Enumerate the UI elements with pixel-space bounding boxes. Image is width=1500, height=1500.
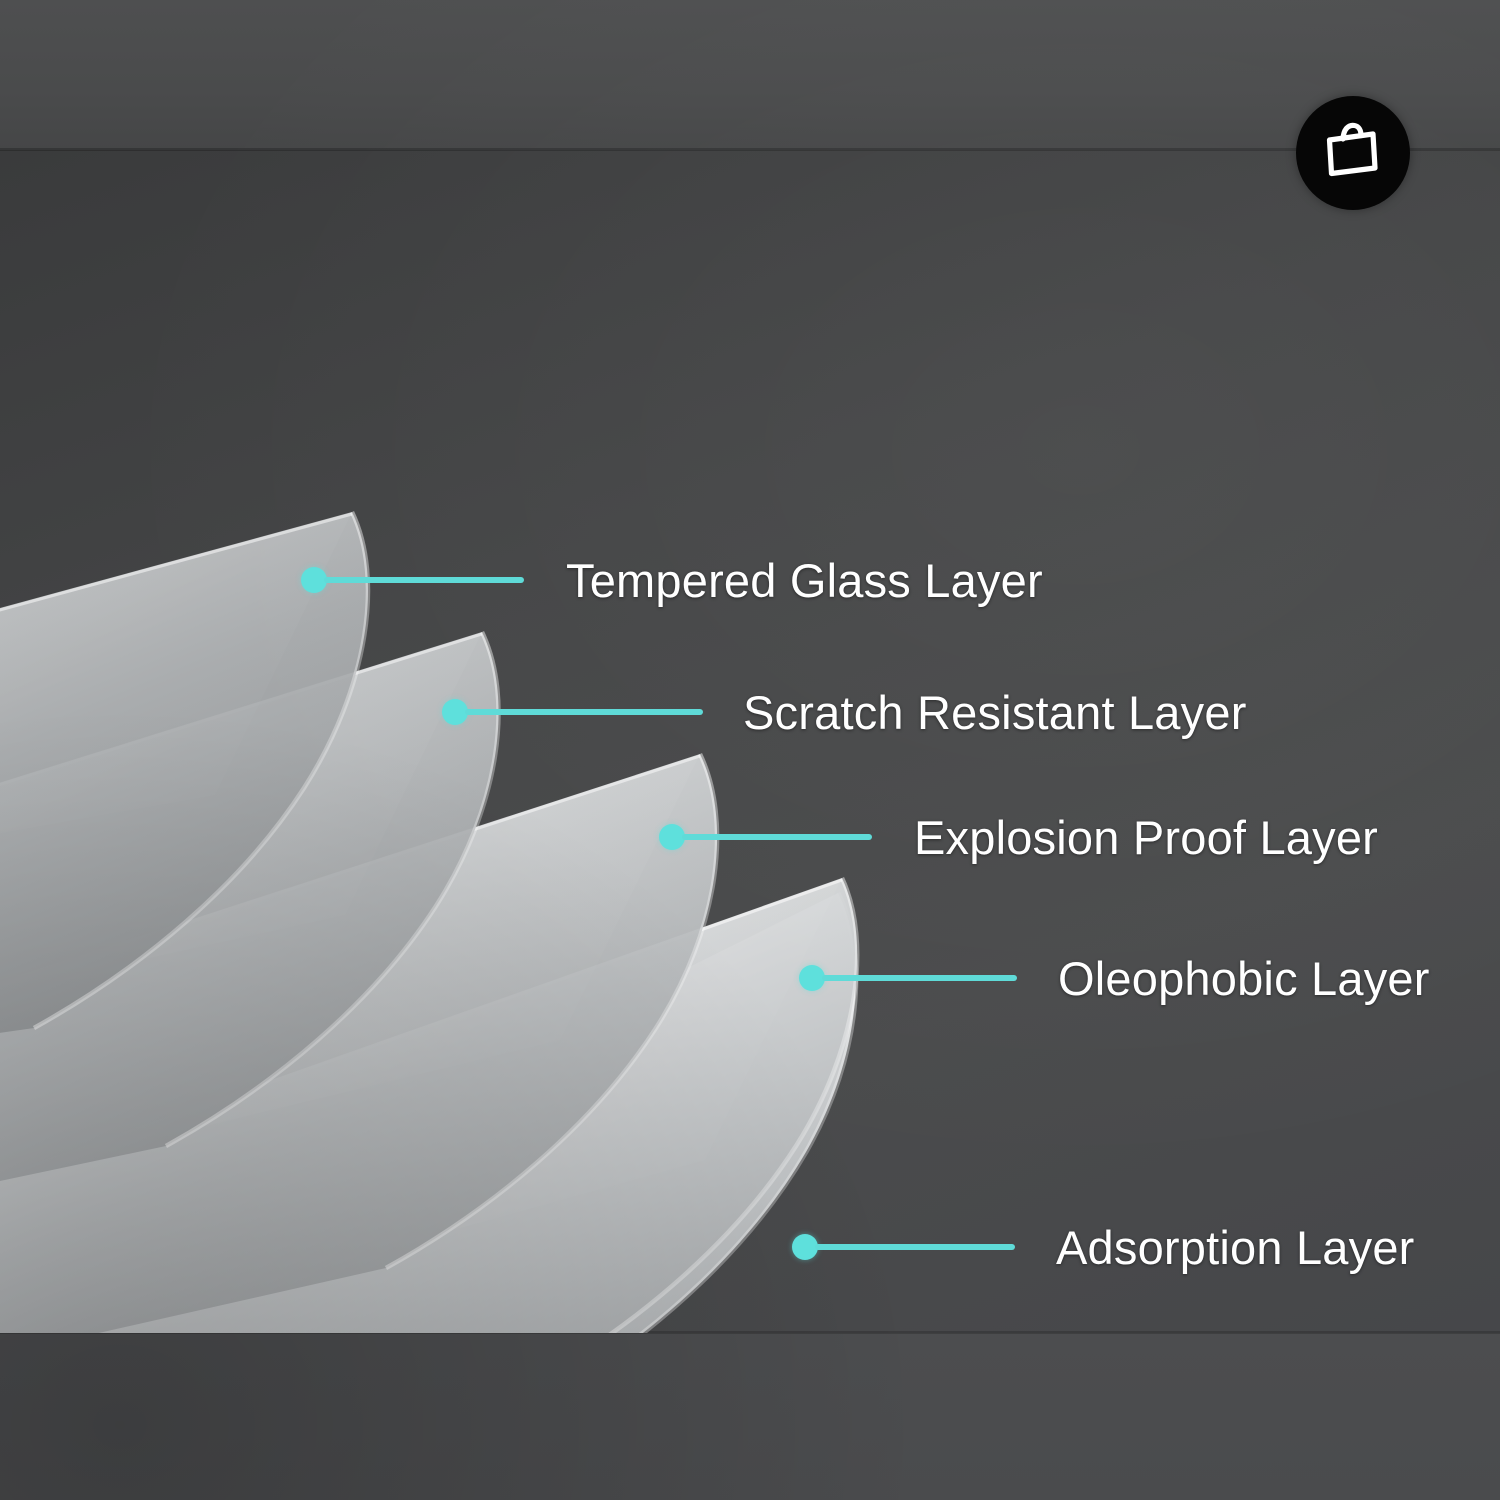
callout-leader-tempered-glass-layer [324, 577, 524, 583]
callout-label-oleophobic-layer: Oleophobic Layer [1058, 955, 1430, 1002]
callout-label-scratch-resistant-layer: Scratch Resistant Layer [743, 689, 1247, 736]
callout-oleophobic-layer: Oleophobic Layer [799, 948, 1430, 1008]
callout-label-adsorption-layer: Adsorption Layer [1056, 1224, 1415, 1271]
product-infographic: Tempered Glass Layer Scratch Resistant L… [0, 0, 1500, 1500]
callout-label-explosion-proof-layer: Explosion Proof Layer [914, 814, 1378, 861]
callout-label-tempered-glass-layer: Tempered Glass Layer [566, 557, 1043, 604]
callout-explosion-proof-layer: Explosion Proof Layer [659, 807, 1378, 867]
callout-leader-oleophobic-layer [822, 975, 1017, 981]
callout-tempered-glass-layer: Tempered Glass Layer [301, 550, 1043, 610]
callout-adsorption-layer: Adsorption Layer [792, 1217, 1415, 1277]
callout-scratch-resistant-layer: Scratch Resistant Layer [442, 682, 1247, 742]
callout-leader-scratch-resistant-layer [465, 709, 703, 715]
callout-leader-explosion-proof-layer [682, 834, 872, 840]
callout-leader-adsorption-layer [815, 1244, 1015, 1250]
shop-badge[interactable] [1296, 96, 1410, 210]
shopping-bag-icon [1316, 116, 1390, 190]
